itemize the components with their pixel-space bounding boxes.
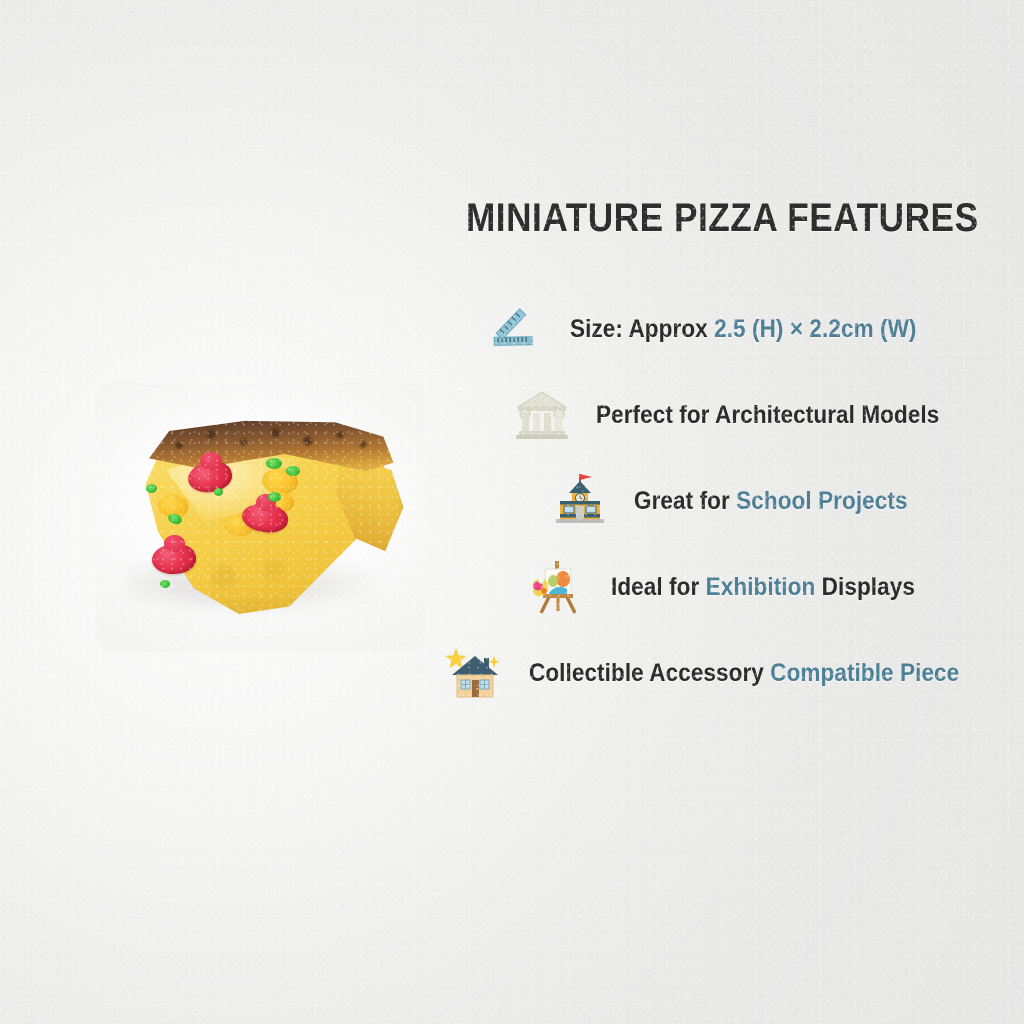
feature-segment-accent: School Projects xyxy=(736,487,907,515)
feature-segment-accent: Exhibition xyxy=(706,573,816,601)
feature-row-exhibition: Ideal for Exhibition Displays xyxy=(420,555,1024,619)
artist-easel-icon xyxy=(525,555,589,619)
feature-segment: Great for xyxy=(634,487,736,515)
feature-segment: Displays xyxy=(815,573,915,601)
pizza-herb-speck xyxy=(146,484,157,493)
sparkling-house-icon xyxy=(443,641,507,705)
feature-segment: Perfect for Architectural Models xyxy=(596,401,939,429)
miniature-pizza-slice xyxy=(116,396,406,626)
feature-row-school: Great for School Projects xyxy=(420,469,1024,533)
feature-label-size: Size: Approx 2.5 (H) × 2.2cm (W) xyxy=(570,315,917,344)
feature-segment-accent: 2.5 (H) × 2.2cm (W) xyxy=(714,315,916,343)
pizza-crust-char xyxy=(156,420,386,462)
feature-segment: Collectible Accessory xyxy=(529,659,770,687)
infographic-canvas: MINIATURE PIZZA FEATURES xyxy=(0,0,1024,1024)
feature-label-exhibition: Ideal for Exhibition Displays xyxy=(611,573,915,602)
school-building-icon xyxy=(548,469,612,533)
pizza-herb-speck xyxy=(160,580,170,588)
feature-label-collectible: Collectible Accessory Compatible Piece xyxy=(529,659,959,688)
triangular-ruler-icon xyxy=(484,297,548,361)
pizza-pepperoni xyxy=(200,452,222,470)
page-title: MINIATURE PIZZA FEATURES xyxy=(466,196,979,241)
feature-label-architecture: Perfect for Architectural Models xyxy=(596,401,939,430)
pizza-herb-speck xyxy=(214,488,223,496)
classical-building-icon xyxy=(510,383,574,447)
feature-row-size: Size: Approx 2.5 (H) × 2.2cm (W) xyxy=(420,297,1024,361)
feature-list-panel: MINIATURE PIZZA FEATURES xyxy=(420,196,1024,705)
feature-row-collectible: Collectible Accessory Compatible Piece xyxy=(420,641,1024,705)
pizza-herb-speck xyxy=(266,458,282,469)
pizza-pepperoni xyxy=(164,535,185,552)
feature-label-school: Great for School Projects xyxy=(634,487,908,516)
pizza-herb-speck xyxy=(268,492,281,502)
feature-segment: Size: Approx xyxy=(570,315,714,343)
product-photo xyxy=(96,382,426,652)
feature-row-architecture: Perfect for Architectural Models xyxy=(420,383,1024,447)
feature-segment-accent: Compatible Piece xyxy=(770,659,959,687)
pizza-herb-speck xyxy=(286,466,300,476)
feature-segment: Ideal for xyxy=(611,573,706,601)
